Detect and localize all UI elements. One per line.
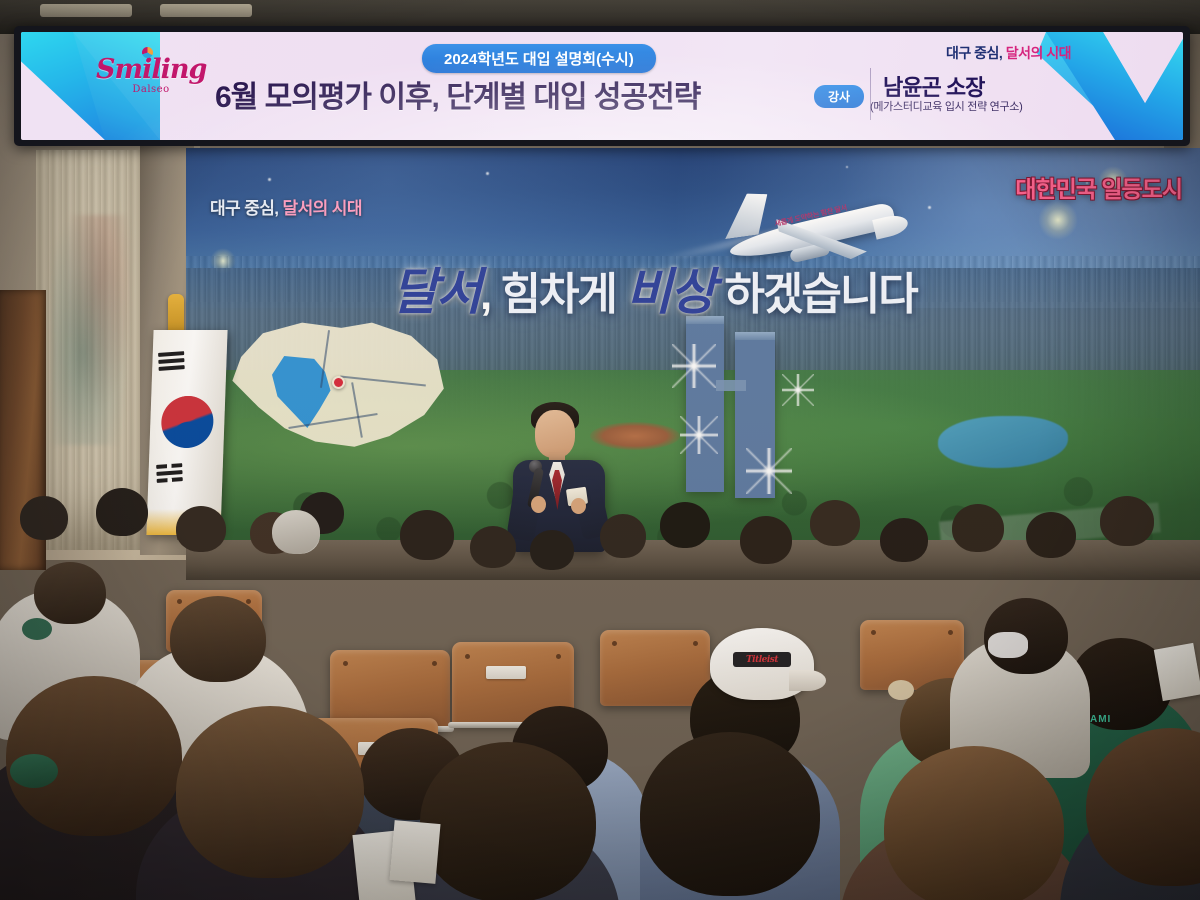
banner-title: 6월 모의평가 이후, 단계별 대입 성공전략 bbox=[215, 72, 700, 116]
slogan-left-pink: 달서의 시대 bbox=[283, 199, 362, 218]
face-mask bbox=[988, 632, 1028, 658]
audience-area: Titleist AMI bbox=[0, 470, 1200, 900]
logo-wordmark: Smiling bbox=[96, 56, 206, 83]
presenter-head bbox=[535, 410, 575, 458]
tower-left bbox=[686, 324, 724, 492]
headline-tail: 하겠습니다 bbox=[724, 270, 916, 319]
headline-word-bisang: 비상 bbox=[626, 262, 714, 321]
headline-mid: 힘차게 bbox=[500, 270, 615, 319]
handout-paper[interactable] bbox=[389, 820, 440, 884]
curtain-artwork bbox=[52, 215, 130, 445]
ceiling-light bbox=[40, 4, 132, 17]
hair-clip bbox=[10, 754, 58, 788]
hair-clip bbox=[888, 680, 914, 700]
audience-head bbox=[420, 742, 596, 900]
photo-scene: 새롭게 도약하는 힘찬 달서 대구 중심, 달서의 시대 대한민국 일등도시 달… bbox=[0, 0, 1200, 900]
banner-slogan: 대구 중심, 달서의 시대 bbox=[946, 43, 1071, 63]
slogan-pink: 달서의 시대 bbox=[1006, 45, 1071, 61]
smiling-dalseo-logo: Smiling Dalseo bbox=[96, 56, 206, 95]
logo-dot-icon bbox=[142, 47, 153, 58]
titleist-cap[interactable]: Titleist bbox=[710, 628, 814, 700]
polo-brand-label: AMI bbox=[1090, 714, 1111, 725]
backdrop-slogan-right: 대한민국 일등도시 bbox=[1015, 170, 1182, 204]
cap-brand-label: Titleist bbox=[733, 652, 791, 666]
led-banner: Smiling Dalseo 2024학년도 대입 설명회(수시) 6월 모의평… bbox=[21, 32, 1183, 140]
speaker-badge: 강사 bbox=[814, 85, 864, 108]
audience-head bbox=[640, 732, 820, 896]
seat-number-plate bbox=[486, 666, 526, 679]
tower-skybridge bbox=[716, 380, 746, 391]
audience-head bbox=[272, 510, 320, 554]
light-flare bbox=[1038, 200, 1078, 240]
session-pill: 2024학년도 대입 설명회(수시) bbox=[422, 44, 656, 73]
hair-clip bbox=[22, 618, 52, 640]
map-location-pin bbox=[332, 376, 345, 389]
audience-head bbox=[176, 706, 364, 878]
headline-comma: , bbox=[480, 270, 490, 319]
logo-subtext: Dalseo bbox=[96, 85, 206, 95]
slogan-left-white: 대구 중심, bbox=[210, 199, 278, 218]
cap-brim bbox=[789, 670, 826, 692]
audience-head bbox=[884, 746, 1064, 900]
headline-word-dalseo: 달서 bbox=[392, 262, 480, 321]
ceiling-light bbox=[160, 4, 252, 17]
handout-paper[interactable] bbox=[1154, 643, 1200, 701]
taeguk-circle bbox=[160, 396, 214, 448]
audience-head bbox=[170, 596, 266, 682]
slogan-dark: 대구 중심, bbox=[946, 45, 1002, 61]
backdrop-headline: 달서, 힘차게 비상 하겠습니다 bbox=[392, 252, 917, 324]
audience-head bbox=[34, 562, 106, 624]
backdrop-slogan-left: 대구 중심, 달서의 시대 bbox=[210, 194, 362, 219]
speaker-organization: (메가스터디교육 입시 전략 연구소) bbox=[870, 98, 1022, 114]
daegu-district-map bbox=[228, 320, 446, 452]
auditorium-seat bbox=[600, 630, 710, 706]
led-banner-frame: Smiling Dalseo 2024학년도 대입 설명회(수시) 6월 모의평… bbox=[14, 26, 1190, 146]
